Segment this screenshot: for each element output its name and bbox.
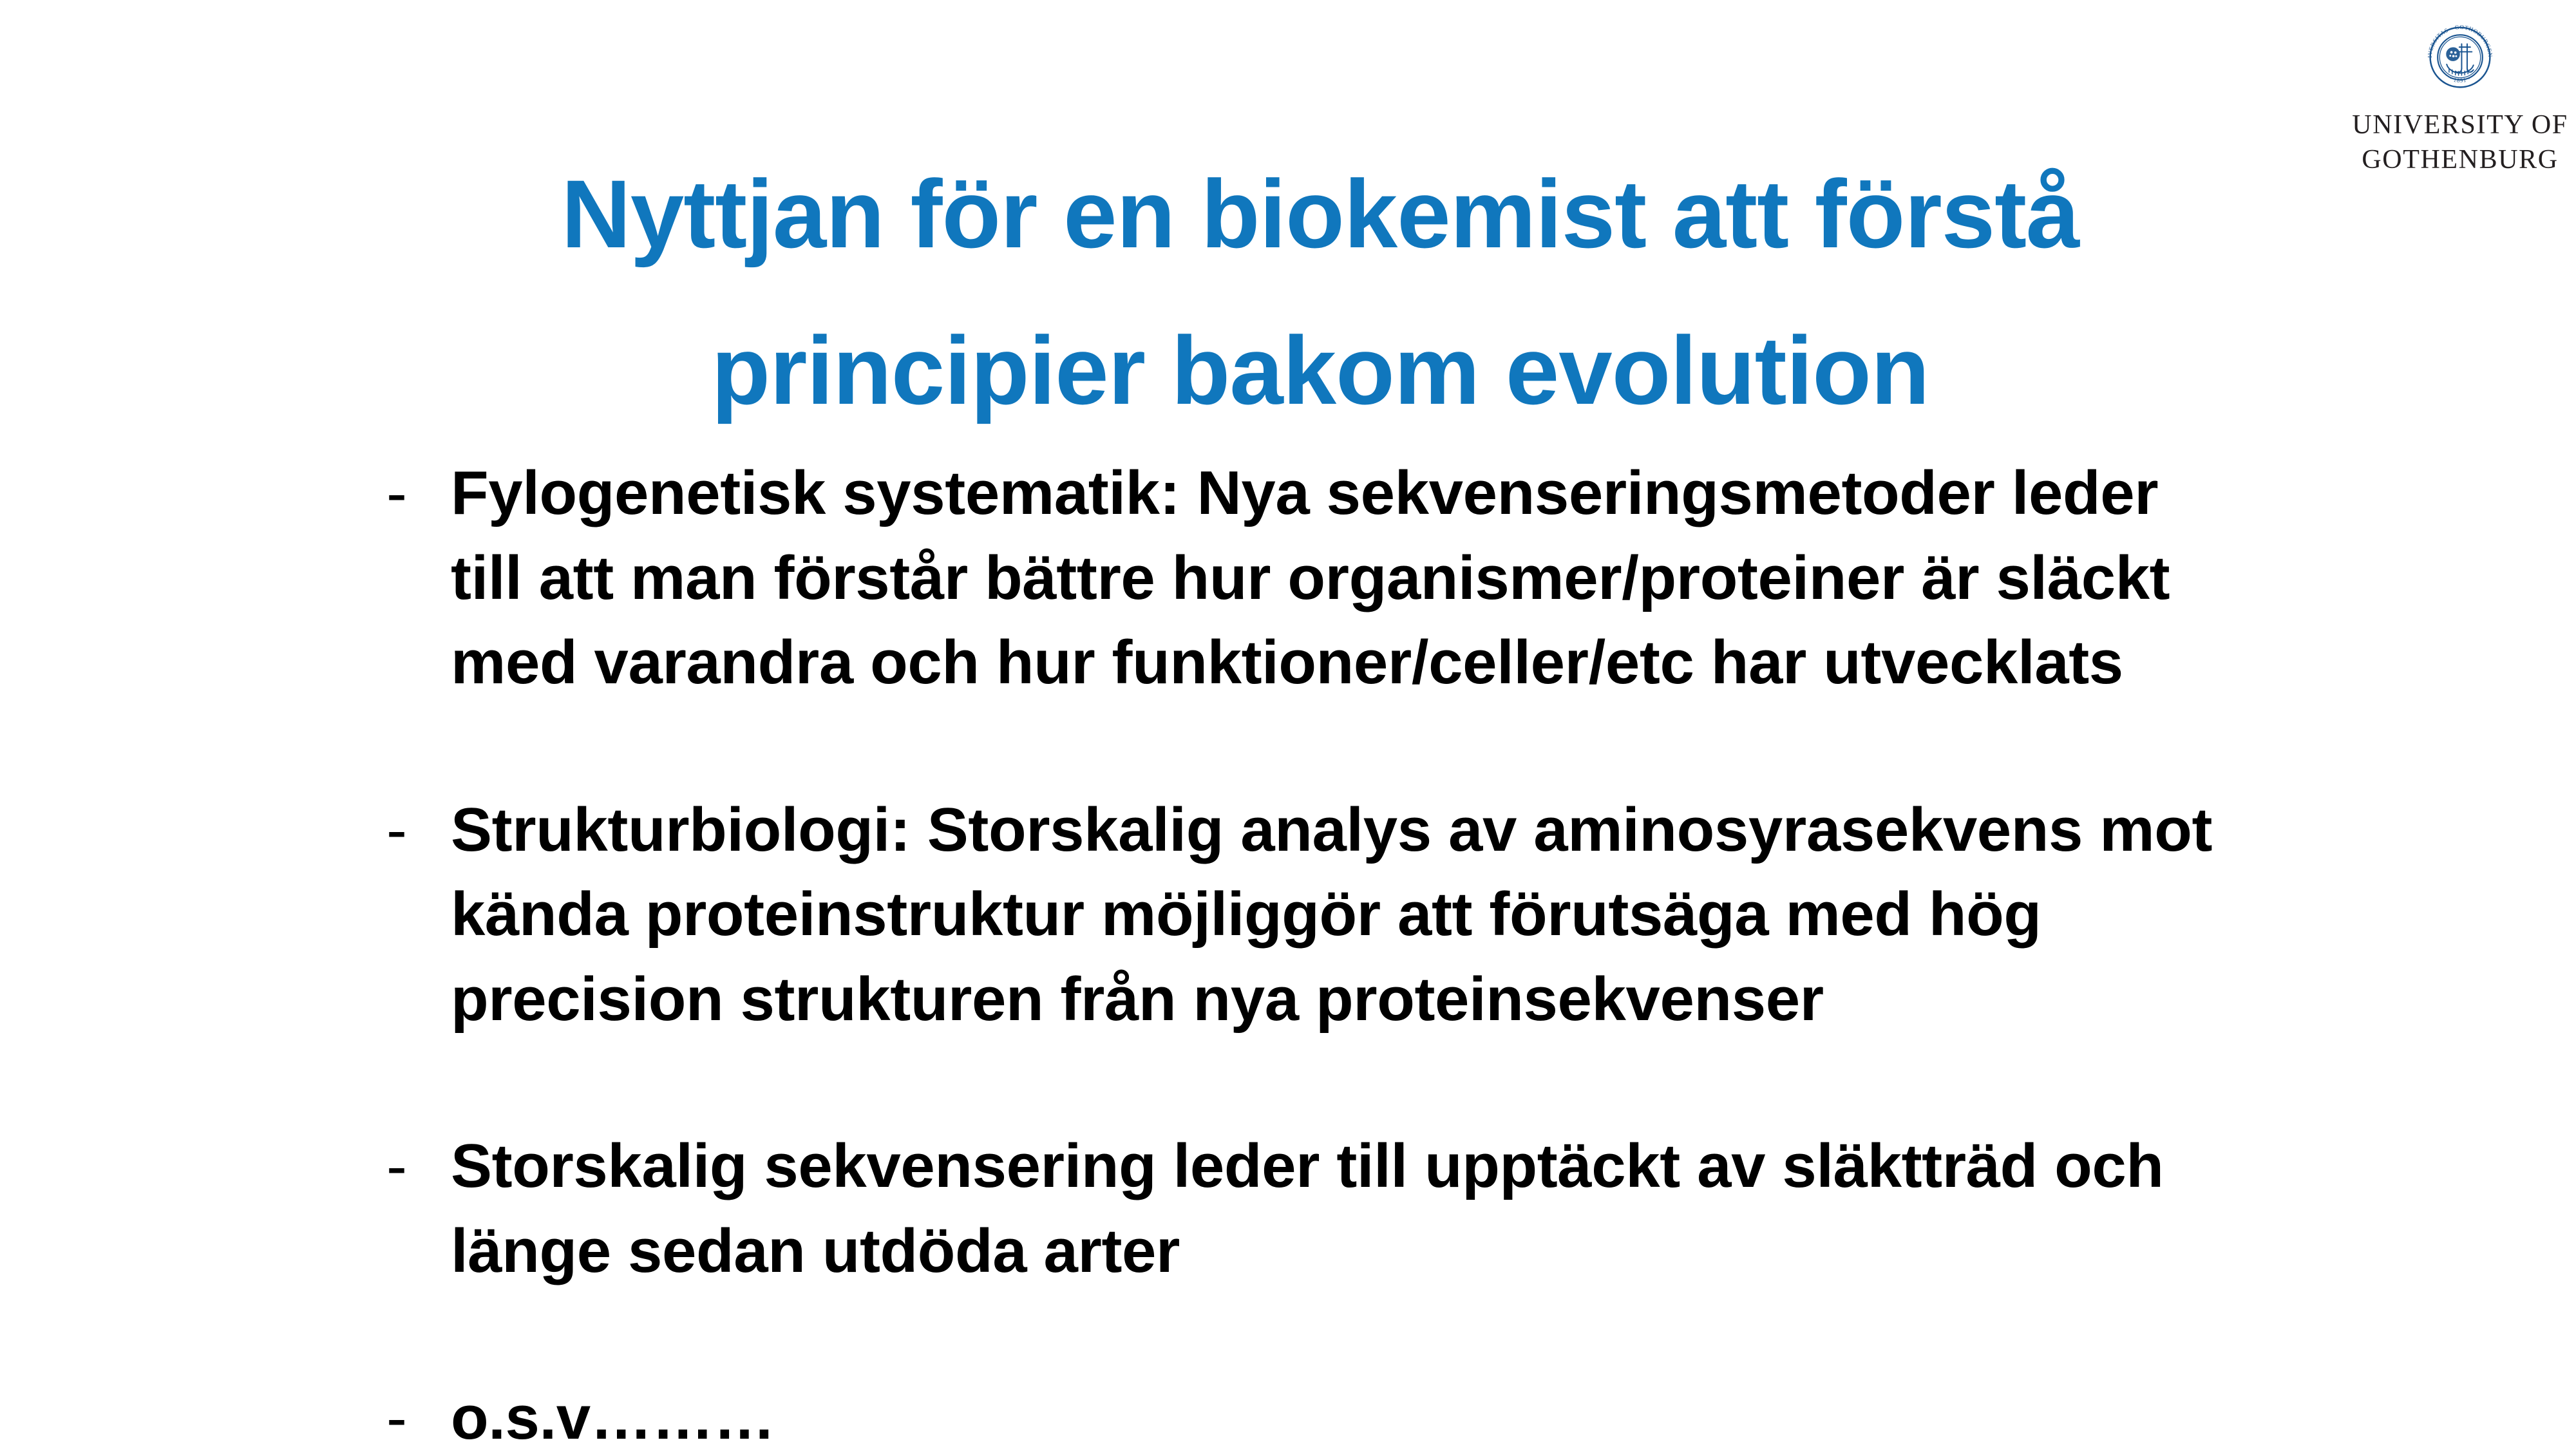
slide-title-line-1: Nyttjan för en biokemist att förstå [193, 136, 2447, 292]
bullet-text: Storskalig sekvensering leder till upptä… [451, 1124, 2241, 1293]
bullet-dash-marker: - [386, 451, 444, 536]
bullet-dash-marker: - [386, 1124, 444, 1209]
bullet-dash-marker: - [386, 788, 444, 873]
list-item: - Fylogenetisk systematik: Nya sekvenser… [386, 451, 2241, 705]
bullet-text: o.s.v……… [451, 1376, 2241, 1449]
bullet-text: Fylogenetisk systematik: Nya sekvenserin… [451, 451, 2241, 705]
bullet-dash-marker: - [386, 1376, 444, 1449]
slide-title: Nyttjan för en biokemist att förstå prin… [193, 136, 2447, 449]
list-item: - Strukturbiologi: Storskalig analys av … [386, 788, 2241, 1042]
svg-text:· 1891 ·: · 1891 · [2448, 75, 2472, 84]
list-item: - o.s.v……… [386, 1376, 2241, 1449]
gothenburg-seal-icon: UNIVERSITAS · GOTHOBURGENSIS · 1891 · [2421, 18, 2499, 97]
bullet-list: - Fylogenetisk systematik: Nya sekvenser… [386, 451, 2241, 1449]
slide-canvas: UNIVERSITAS · GOTHOBURGENSIS · 1891 · [0, 0, 2576, 1449]
bullet-text: Strukturbiologi: Storskalig analys av am… [451, 788, 2241, 1042]
list-item: - Storskalig sekvensering leder till upp… [386, 1124, 2241, 1293]
slide-title-line-2: principier bakom evolution [193, 292, 2447, 449]
